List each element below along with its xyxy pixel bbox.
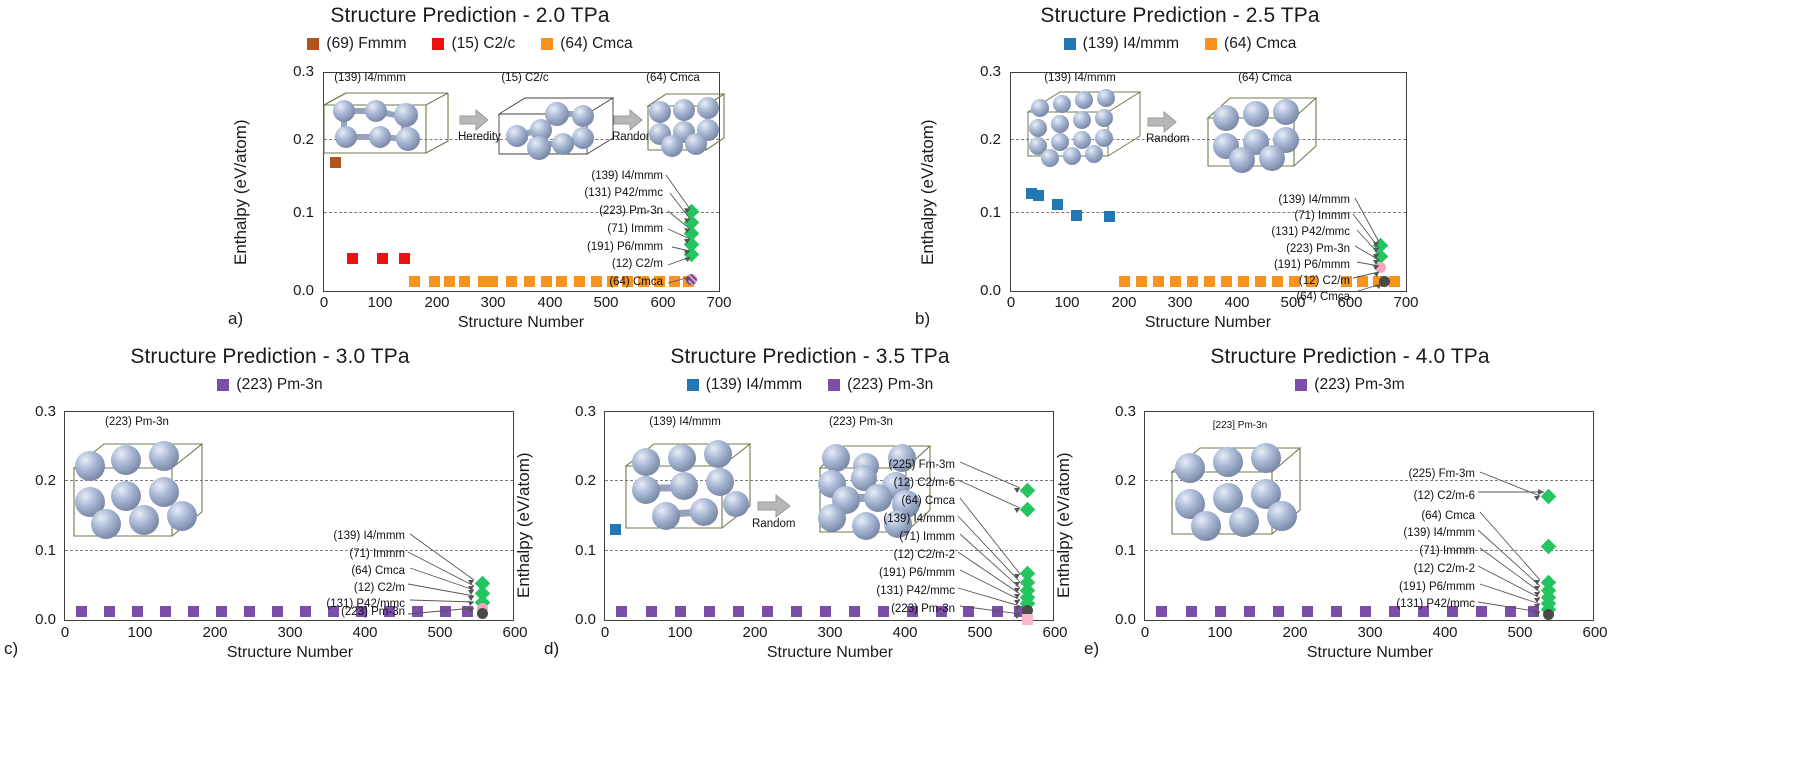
panel-c-xtick: 600 (495, 624, 535, 641)
panel-c-ytick: 0.1 (0, 542, 56, 559)
legend-label: (15) C2/c (451, 35, 515, 53)
panel-c: Structure Prediction - 3.0 TPa (223) Pm-… (10, 345, 530, 394)
panel-e-annotation: (191) P6/mmm (1360, 581, 1475, 593)
panel-e-xtick: 300 (1350, 624, 1390, 641)
panel-c-annotation: (139) I4/mmm (300, 530, 405, 542)
panel-e-legend: (223) Pm-3m (1090, 376, 1610, 394)
data-point (104, 606, 115, 617)
panel-d-annotation: (71) Immm (840, 531, 955, 543)
panel-b-legend: (139) I4/mmm (64) Cmca (900, 35, 1460, 53)
panel-d: Structure Prediction - 3.5 TPa (139) I4/… (550, 345, 1070, 394)
data-point (1156, 606, 1167, 617)
data-point (646, 606, 657, 617)
data-point (1187, 276, 1198, 287)
legend-label: (139) I4/mmm (706, 376, 802, 394)
panel-d-annotation: (223) Pm-3n (840, 603, 955, 615)
panel-d-annotation: (64) Cmca (840, 495, 955, 507)
panel-d-xtick: 600 (1035, 624, 1075, 641)
data-point (791, 606, 802, 617)
panel-c-crystal-inset-1 (64, 432, 209, 544)
legend-swatch-icon (432, 38, 444, 50)
panel-a-xlabel: Structure Number (421, 314, 621, 332)
panel-a-annotation: (131) P42/mmc (543, 187, 663, 199)
legend-swatch-icon (541, 38, 553, 50)
panel-d-title: Structure Prediction - 3.5 TPa (550, 345, 1070, 369)
panel-c-legend: (223) Pm-3n (10, 376, 530, 394)
panel-d-arrow-label-1: Random (752, 518, 795, 530)
legend-label: (69) Fmmm (326, 35, 406, 53)
data-point (524, 276, 535, 287)
legend-swatch-icon (1064, 38, 1076, 50)
legend-item: (139) I4/mmm (687, 376, 802, 394)
panel-a-xtick: 100 (360, 294, 400, 311)
panel-a-ytick: 0.2 (258, 131, 314, 148)
legend-item: (15) C2/c (432, 35, 515, 53)
panel-c-annotation: (71) Immm (300, 548, 405, 560)
panel-b-title: Structure Prediction - 2.5 TPa (900, 4, 1460, 28)
panel-a-ytick: 0.1 (258, 204, 314, 221)
panel-e: Structure Prediction - 4.0 TPa (223) Pm-… (1090, 345, 1610, 394)
panel-b-arrow-1-icon (1148, 112, 1176, 132)
panel-a-title: Structure Prediction - 2.0 TPa (190, 4, 750, 28)
data-point (1170, 276, 1181, 287)
panel-c-leader-lines (404, 528, 484, 618)
data-point (820, 606, 831, 617)
panel-e-annotation: (131) P42/mmc (1360, 598, 1475, 610)
panel-e-annotation: (64) Cmca (1360, 510, 1475, 522)
data-point (444, 276, 455, 287)
panel-b-letter: b) (915, 309, 930, 329)
panel-d-ylabel: Enthalpy (eV/atom) (514, 452, 534, 598)
panel-e-xtick: 600 (1575, 624, 1615, 641)
panel-e-annotation: (71) Immm (1360, 545, 1475, 557)
panel-c-xtick: 500 (420, 624, 460, 641)
panel-b-xtick: 0 (991, 294, 1031, 311)
panel-c-xtick: 300 (270, 624, 310, 641)
panel-b: Structure Prediction - 2.5 TPa (139) I4/… (900, 4, 1460, 53)
panel-c-inset-caption: (223) Pm-3n (62, 416, 212, 428)
panel-b-ytick: 0.3 (945, 63, 1001, 80)
panel-d-letter: d) (544, 639, 559, 659)
panel-a-xtick: 200 (417, 294, 457, 311)
panel-d-annotation: (139) I4/mmm (840, 513, 955, 525)
data-point (1186, 606, 1197, 617)
panel-d-inset-caption: (223) Pm-3n (786, 416, 936, 428)
panel-a-crystal-inset-2 (495, 92, 617, 164)
panel-d-ytick: 0.1 (540, 542, 596, 559)
data-point (160, 606, 171, 617)
data-point (188, 606, 199, 617)
panel-a-xtick: 500 (586, 294, 626, 311)
panel-d-xtick: 200 (735, 624, 775, 641)
panel-e-annotation: (12) C2/m-6 (1360, 490, 1475, 502)
panel-b-ytick: 0.2 (945, 131, 1001, 148)
panel-c-annotation: (223) Pm-3n (300, 606, 405, 618)
data-point (1302, 606, 1313, 617)
panel-b-crystal-inset-1 (1024, 86, 1144, 172)
data-point (347, 253, 358, 264)
panel-d-xtick: 100 (660, 624, 700, 641)
panel-a-inset-caption: (139) I4/mmm (290, 72, 450, 84)
panel-e-inset-caption: [223] Pm-3n (1170, 420, 1310, 431)
panel-a-inset-caption: (64) Cmca (598, 72, 748, 84)
panel-e-xtick: 400 (1425, 624, 1465, 641)
panel-e-title: Structure Prediction - 4.0 TPa (1090, 345, 1610, 369)
panel-b-xtick: 200 (1104, 294, 1144, 311)
data-point (506, 276, 517, 287)
panel-b-annotation: (223) Pm-3n (1230, 243, 1350, 255)
panel-d-ytick: 0.2 (540, 472, 596, 489)
data-point (409, 276, 420, 287)
panel-a-legend: (69) Fmmm (15) C2/c (64) Cmca (190, 35, 750, 53)
data-point (76, 606, 87, 617)
data-point (1033, 190, 1044, 201)
panel-b-leader-lines (1349, 192, 1393, 292)
panel-d-xtick: 0 (585, 624, 625, 641)
legend-label: (223) Pm-3n (236, 376, 322, 394)
panel-b-annotation: (131) P42/mmc (1230, 226, 1350, 238)
legend-label: (139) I4/mmm (1083, 35, 1179, 53)
panel-e-xlabel: Structure Number (1270, 644, 1470, 662)
data-point (1104, 211, 1115, 222)
panel-b-annotation: (64) Cmca (1230, 291, 1350, 303)
data-point (330, 157, 341, 168)
panel-b-inset-caption: (64) Cmca (1190, 72, 1340, 84)
panel-a-ylabel: Enthalpy (eV/atom) (231, 119, 251, 265)
panel-e-ytick: 0.3 (1080, 403, 1136, 420)
panel-b-annotation: (191) P6/mmm (1230, 259, 1350, 271)
legend-swatch-icon (307, 38, 319, 50)
panel-e-ytick: 0.2 (1080, 472, 1136, 489)
legend-swatch-icon (687, 379, 699, 391)
panel-e-ylabel: Enthalpy (eV/atom) (1054, 452, 1074, 598)
data-point (610, 524, 621, 535)
panel-e-leader-lines (1474, 466, 1554, 621)
panel-c-annotation: (12) C2/m (300, 582, 405, 594)
panel-e-crystal-inset-1 (1160, 434, 1310, 546)
panel-c-xtick: 0 (45, 624, 85, 641)
legend-item: (223) Pm-3m (1295, 376, 1404, 394)
data-point (244, 606, 255, 617)
panel-d-ytick: 0.3 (540, 403, 596, 420)
panel-d-arrow-1-icon (758, 495, 790, 517)
panel-b-xlabel: Structure Number (1108, 314, 1308, 332)
panel-b-xtick: 100 (1047, 294, 1087, 311)
panel-e-xtick: 500 (1500, 624, 1540, 641)
panel-d-xtick: 300 (810, 624, 850, 641)
panel-d-annotation: (12) C2/m-6 (840, 477, 955, 489)
panel-c-annotation: (64) Cmca (300, 565, 405, 577)
data-point (675, 606, 686, 617)
panel-a-xtick: 600 (643, 294, 683, 311)
data-point (487, 276, 498, 287)
data-point (1136, 276, 1147, 287)
legend-label: (64) Cmca (560, 35, 632, 53)
data-point (1273, 606, 1284, 617)
panel-d-xtick: 400 (885, 624, 925, 641)
panel-c-xtick: 200 (195, 624, 235, 641)
panel-b-annotation: (71) Immm (1230, 210, 1350, 222)
legend-item: (139) I4/mmm (1064, 35, 1179, 53)
panel-d-annotation: (131) P42/mmc (840, 585, 955, 597)
panel-a-annotation: (223) Pm-3n (543, 205, 663, 217)
panel-d-xtick: 500 (960, 624, 1000, 641)
panel-b-inset-caption: (139) I4/mmm (1000, 72, 1160, 84)
data-point (1052, 199, 1063, 210)
panel-d-crystal-inset-1 (618, 432, 758, 537)
legend-label: (64) Cmca (1224, 35, 1296, 53)
panel-e-annotation: (12) C2/m-2 (1360, 563, 1475, 575)
panel-e-annotation: (139) I4/mmm (1360, 527, 1475, 539)
legend-swatch-icon (1295, 379, 1307, 391)
data-point (704, 606, 715, 617)
panel-e-letter: e) (1084, 639, 1099, 659)
panel-a-leader-lines (660, 165, 700, 285)
legend-item: (223) Pm-3n (828, 376, 933, 394)
panel-a-annotation: (139) I4/mmm (543, 170, 663, 182)
data-point (399, 253, 410, 264)
data-point (377, 253, 388, 264)
panel-d-annotation: (191) P6/mmm (840, 567, 955, 579)
panel-c-title: Structure Prediction - 3.0 TPa (10, 345, 530, 369)
panel-a-annotation: (71) Immm (543, 223, 663, 235)
panel-a-annotation: (64) Cmca (543, 276, 663, 288)
panel-d-annotation: (12) C2/m-2 (840, 549, 955, 561)
data-point (1244, 606, 1255, 617)
panel-c-xtick: 100 (120, 624, 160, 641)
panel-b-annotation: (12) C2/m (1230, 275, 1350, 287)
panel-c-xtick: 400 (345, 624, 385, 641)
data-point (1204, 276, 1215, 287)
panel-b-annotation: (139) I4/mmm (1230, 194, 1350, 206)
data-point (1331, 606, 1342, 617)
panel-e-annotation: (225) Fm-3m (1360, 468, 1475, 480)
panel-b-arrow-label-1: Random (1146, 133, 1189, 145)
legend-item: (64) Cmca (1205, 35, 1296, 53)
data-point (272, 606, 283, 617)
data-point (1153, 276, 1164, 287)
data-point (459, 276, 470, 287)
legend-label: (223) Pm-3m (1314, 376, 1404, 394)
panel-a-letter: a) (228, 309, 243, 329)
panel-c-xlabel: Structure Number (190, 644, 390, 662)
legend-label: (223) Pm-3n (847, 376, 933, 394)
panel-c-letter: c) (4, 639, 18, 659)
legend-item: (69) Fmmm (307, 35, 406, 53)
panel-a-annotation: (12) C2/m (543, 258, 663, 270)
panel-e-xtick: 100 (1200, 624, 1240, 641)
data-point (429, 276, 440, 287)
legend-swatch-icon (217, 379, 229, 391)
panel-d-leader-lines (954, 456, 1034, 616)
data-point (616, 606, 627, 617)
data-point (1071, 210, 1082, 221)
panel-d-xlabel: Structure Number (730, 644, 930, 662)
panel-a-crystal-inset-3 (644, 88, 728, 160)
panel-e-xtick: 0 (1125, 624, 1165, 641)
panel-b-xtick: 700 (1386, 294, 1426, 311)
panel-a-crystal-inset-1 (318, 87, 454, 161)
panel-a-arrow-1-icon (460, 110, 488, 130)
panel-e-xtick: 200 (1275, 624, 1315, 641)
panel-b-crystal-inset-2 (1202, 88, 1322, 176)
legend-item: (223) Pm-3n (217, 376, 322, 394)
data-point (216, 606, 227, 617)
panel-a-inset-caption: (15) C2/c (450, 72, 600, 84)
data-point (733, 606, 744, 617)
panel-c-ytick: 0.2 (0, 472, 56, 489)
panel-b-ylabel: Enthalpy (eV/atom) (918, 119, 938, 265)
legend-swatch-icon (828, 379, 840, 391)
data-point (1215, 606, 1226, 617)
panel-d-legend: (139) I4/mmm (223) Pm-3n (550, 376, 1070, 394)
panel-a-annotation: (191) P6/mmm (543, 241, 663, 253)
panel-a-xtick: 700 (699, 294, 739, 311)
panel-d-inset-caption: (139) I4/mmm (610, 416, 760, 428)
panel-c-ytick: 0.3 (0, 403, 56, 420)
legend-item: (64) Cmca (541, 35, 632, 53)
panel-a-xtick: 0 (304, 294, 344, 311)
legend-swatch-icon (1205, 38, 1217, 50)
panel-e-ytick: 0.1 (1080, 542, 1136, 559)
panel-d-annotation: (225) Fm-3m (840, 459, 955, 471)
panel-b-ytick: 0.1 (945, 204, 1001, 221)
panel-a-xtick: 300 (473, 294, 513, 311)
data-point (762, 606, 773, 617)
panel-a-xtick: 400 (530, 294, 570, 311)
data-point (1119, 276, 1130, 287)
panel-a-arrow-2-icon (614, 110, 642, 130)
panel-a: Structure Prediction - 2.0 TPa (69) Fmmm… (190, 4, 750, 53)
panel-b-xtick: 300 (1160, 294, 1200, 311)
data-point (132, 606, 143, 617)
